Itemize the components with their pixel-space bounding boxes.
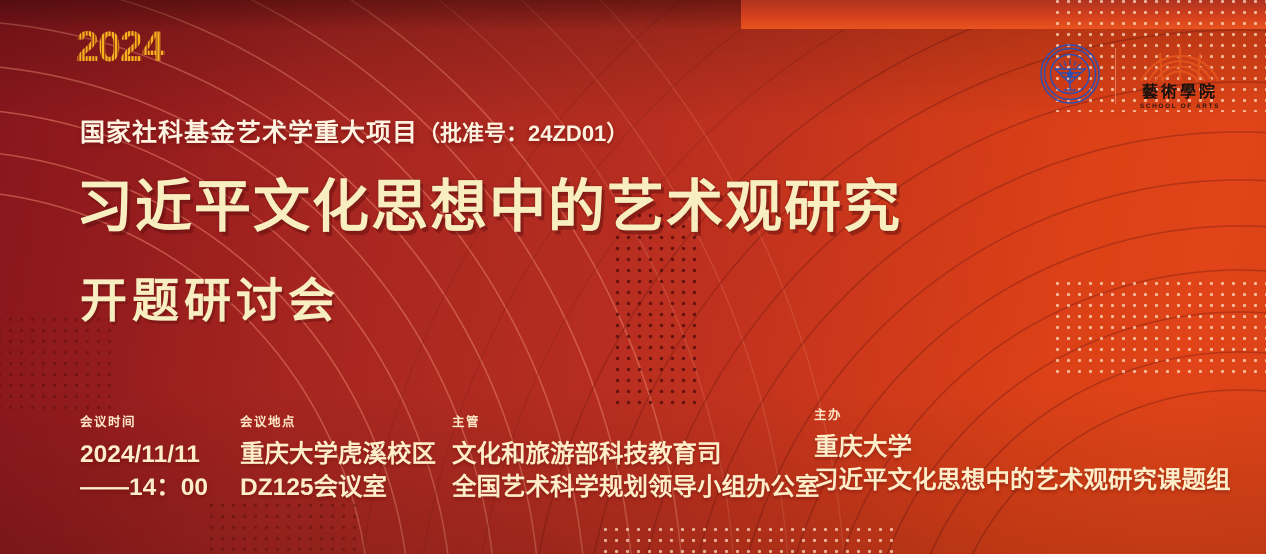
info-line: DZ125会议室 bbox=[240, 472, 436, 505]
info-line: ——14：00 bbox=[80, 472, 208, 505]
project-line: 国家社科基金艺术学重大项目（批准号：24ZD01） bbox=[80, 113, 628, 149]
logo-group: 藝術學院 SCHOOL OF ARTS bbox=[1039, 42, 1230, 110]
info-line: 文化和旅游部科技教育司 bbox=[452, 439, 820, 472]
conference-poster: 2024 bbox=[0, 0, 1266, 554]
info-value-supervisor: 文化和旅游部科技教育司 全国艺术科学规划领导小组办公室 bbox=[452, 439, 820, 504]
school-of-arts-chinese: 藝術學院 bbox=[1130, 84, 1230, 100]
logo-divider bbox=[1115, 48, 1116, 104]
school-of-arts-english: SCHOOL OF ARTS bbox=[1130, 103, 1230, 110]
info-block-time: 会议时间 2024/11/11 ——14：00 bbox=[80, 411, 208, 504]
info-line: 2024/11/11 bbox=[80, 439, 208, 472]
info-label-place: 会议地点 bbox=[240, 411, 436, 430]
project-name: 国家社科基金艺术学重大项目 bbox=[80, 119, 418, 147]
info-block-place: 会议地点 重庆大学虎溪校区 DZ125会议室 bbox=[240, 411, 436, 504]
info-block-supervisor: 主管 文化和旅游部科技教育司 全国艺术科学规划领导小组办公室 bbox=[452, 411, 820, 504]
page-title: 习近平文化思想中的艺术观研究 bbox=[76, 161, 902, 243]
info-line: 习近平文化思想中的艺术观研究课题组 bbox=[814, 465, 1231, 498]
info-label-time: 会议时间 bbox=[80, 411, 208, 430]
approval-number: （批准号：24ZD01） bbox=[418, 121, 628, 146]
school-of-arts-logo-icon: 藝術學院 SCHOOL OF ARTS bbox=[1130, 42, 1230, 110]
info-line: 全国艺术科学规划领导小组办公室 bbox=[452, 472, 820, 505]
info-line: 重庆大学虎溪校区 bbox=[240, 439, 436, 472]
info-label-host: 主办 bbox=[814, 404, 1231, 423]
top-right-highlight-panel bbox=[741, 0, 1266, 29]
chongqing-university-seal-icon bbox=[1039, 43, 1101, 110]
info-label-supervisor: 主管 bbox=[452, 411, 820, 430]
info-block-host: 主办 重庆大学 习近平文化思想中的艺术观研究课题组 bbox=[814, 404, 1231, 497]
page-subtitle: 开题研讨会 bbox=[80, 262, 340, 331]
year-label: 2024 bbox=[76, 26, 164, 69]
info-value-host: 重庆大学 习近平文化思想中的艺术观研究课题组 bbox=[814, 432, 1231, 497]
info-line: 重庆大学 bbox=[814, 432, 1231, 465]
info-value-time: 2024/11/11 ——14：00 bbox=[80, 439, 208, 504]
info-value-place: 重庆大学虎溪校区 DZ125会议室 bbox=[240, 439, 436, 504]
